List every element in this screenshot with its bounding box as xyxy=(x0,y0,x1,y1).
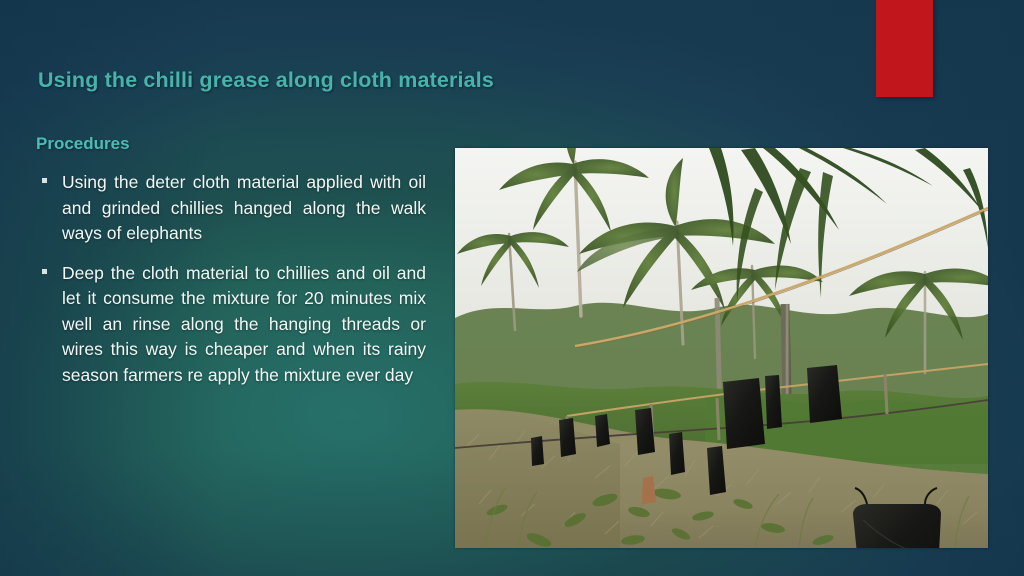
page-title: Using the chilli grease along cloth mate… xyxy=(38,68,638,93)
list-item-text: Deep the cloth material to chillies and … xyxy=(62,261,426,389)
square-bullet-icon xyxy=(36,261,62,389)
list-item: Using the deter cloth material applied w… xyxy=(36,170,426,247)
content-column: Procedures Using the deter cloth materia… xyxy=(36,134,426,402)
cloth-bag-large xyxy=(723,378,765,449)
section-subheading: Procedures xyxy=(36,134,426,154)
list-item: Deep the cloth material to chillies and … xyxy=(36,261,426,389)
slide-canvas: Using the chilli grease along cloth mate… xyxy=(0,0,1024,576)
square-bullet-icon xyxy=(36,170,62,247)
photo-illustration xyxy=(455,148,988,548)
list-item-text: Using the deter cloth material applied w… xyxy=(62,170,426,247)
cloth-bag-foreground xyxy=(853,504,941,548)
red-accent-bar xyxy=(876,0,933,97)
slide-photo xyxy=(455,148,988,548)
